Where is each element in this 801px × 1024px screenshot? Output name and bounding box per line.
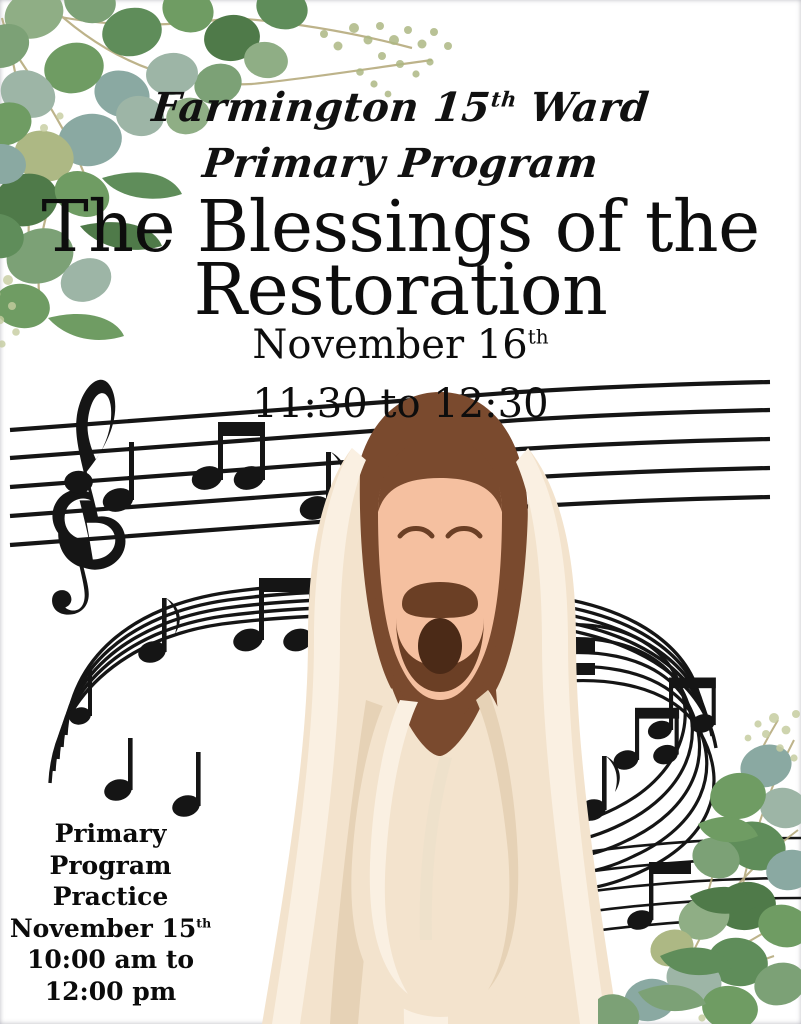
event-date-text: November 16 [252, 322, 527, 368]
practice-date-text: November 15 [10, 914, 196, 943]
eucalyptus-greenery-bottom-right [598, 700, 801, 1024]
event-time: 11:30 to 12:30 [0, 381, 801, 427]
ward-suffix-text: Ward [514, 84, 652, 131]
ward-name-line: Farmington 15th Ward [0, 84, 801, 131]
practice-time-start: 10:00 am to [8, 944, 213, 976]
practice-date: November 15th [8, 913, 213, 945]
poster-canvas: Farmington 15th Ward Primary Program The… [0, 0, 801, 1024]
practice-time-end: 12:00 pm [8, 976, 213, 1008]
event-date-ordinal: th [528, 325, 549, 349]
ward-ordinal-suffix: th [490, 87, 518, 112]
main-title-line-2: Restoration [0, 255, 801, 325]
practice-line-3: Practice [8, 881, 213, 913]
ward-name-text: Farmington 15 [150, 84, 493, 131]
program-subtitle-line: Primary Program [0, 140, 801, 187]
practice-line-1: Primary [8, 818, 213, 850]
practice-info-block: Primary Program Practice November 15th 1… [8, 818, 213, 1007]
practice-date-ordinal: th [196, 915, 211, 930]
practice-line-2: Program [8, 850, 213, 882]
event-date: November 16th [0, 322, 801, 368]
